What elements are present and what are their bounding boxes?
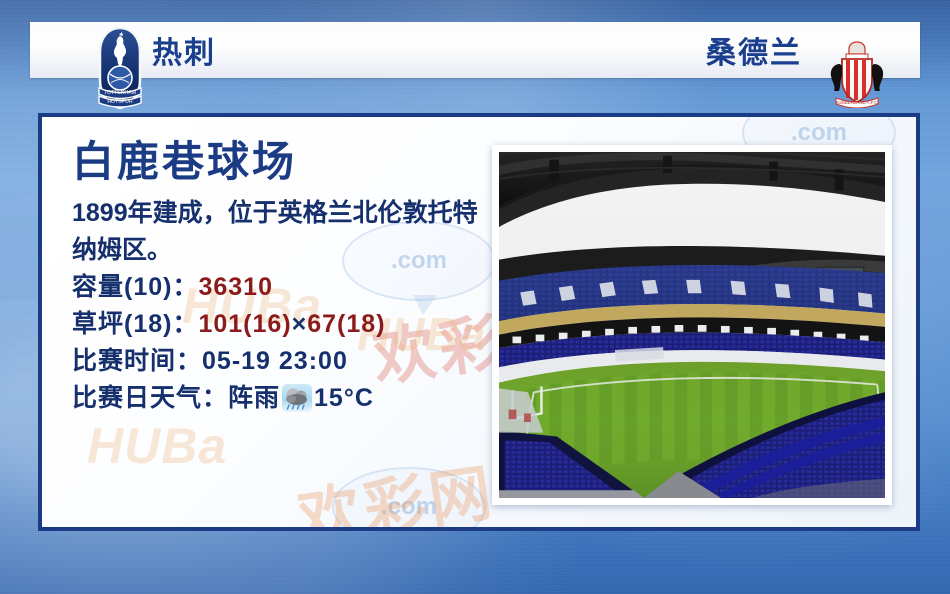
home-crest-banner-top: TOTTENHAM	[104, 90, 136, 96]
kickoff-row: 比赛时间：05-19 23:00	[72, 343, 492, 380]
pitch-label: 草坪(18)：	[72, 310, 198, 338]
pitch-length-value: 101(16)	[198, 310, 291, 338]
watermark-brand-cn: 欢彩网	[292, 442, 501, 531]
home-crest-banner-bottom: HOTSPUR	[107, 99, 133, 105]
stadium-info-text: 白鹿巷球场 1899年建成，位于英格兰北伦敦托特纳姆区。 容量(10)：3631…	[72, 139, 492, 417]
stadium-photo	[499, 152, 885, 498]
away-crest-banner: SUNDERLAND A.F.C.	[835, 100, 878, 105]
home-team-name: 热刺	[152, 28, 216, 72]
stadium-name-title: 白鹿巷球场	[72, 139, 492, 185]
weather-row: 比赛日天气：阵雨 15°C	[72, 380, 492, 417]
stadium-description: 1899年建成，位于英格兰北伦敦托特纳姆区。	[72, 195, 490, 269]
sunderland-afc-crest-icon: SUNDERLAND A.F.C.	[822, 38, 892, 108]
kickoff-value: 05-19 23:00	[202, 347, 348, 375]
stadium-info-card: .com .com .com .com 欢彩网 欢彩网 HUBa HUBa HU…	[38, 113, 920, 531]
watermark-bubble: .com	[332, 467, 486, 531]
away-team-name: 桑德兰	[706, 28, 802, 72]
capacity-row: 容量(10)：36310	[72, 269, 492, 306]
tottenham-hotspur-crest-icon: TOTTENHAM HOTSPUR	[92, 26, 148, 110]
stadium-info-panel: TOTTENHAM HOTSPUR 热刺 桑德兰	[0, 0, 950, 594]
capacity-value: 36310	[198, 273, 273, 301]
pitch-row: 草坪(18)：101(16)×67(18)	[72, 306, 492, 343]
weather-label: 比赛日天气：	[72, 384, 228, 412]
capacity-label: 容量(10)：	[72, 273, 198, 301]
stadium-photo-frame	[492, 145, 892, 505]
pitch-width-value: 67(18)	[307, 310, 385, 338]
weather-condition: 阵雨	[228, 384, 280, 412]
pitch-separator: ×	[292, 310, 308, 338]
watermark-brand-en: HUBa	[87, 417, 227, 475]
match-header-bar: TOTTENHAM HOTSPUR 热刺 桑德兰	[30, 22, 920, 78]
kickoff-label: 比赛时间：	[72, 347, 202, 375]
rain-shower-icon	[282, 384, 312, 412]
weather-temperature: 15°C	[314, 384, 374, 412]
